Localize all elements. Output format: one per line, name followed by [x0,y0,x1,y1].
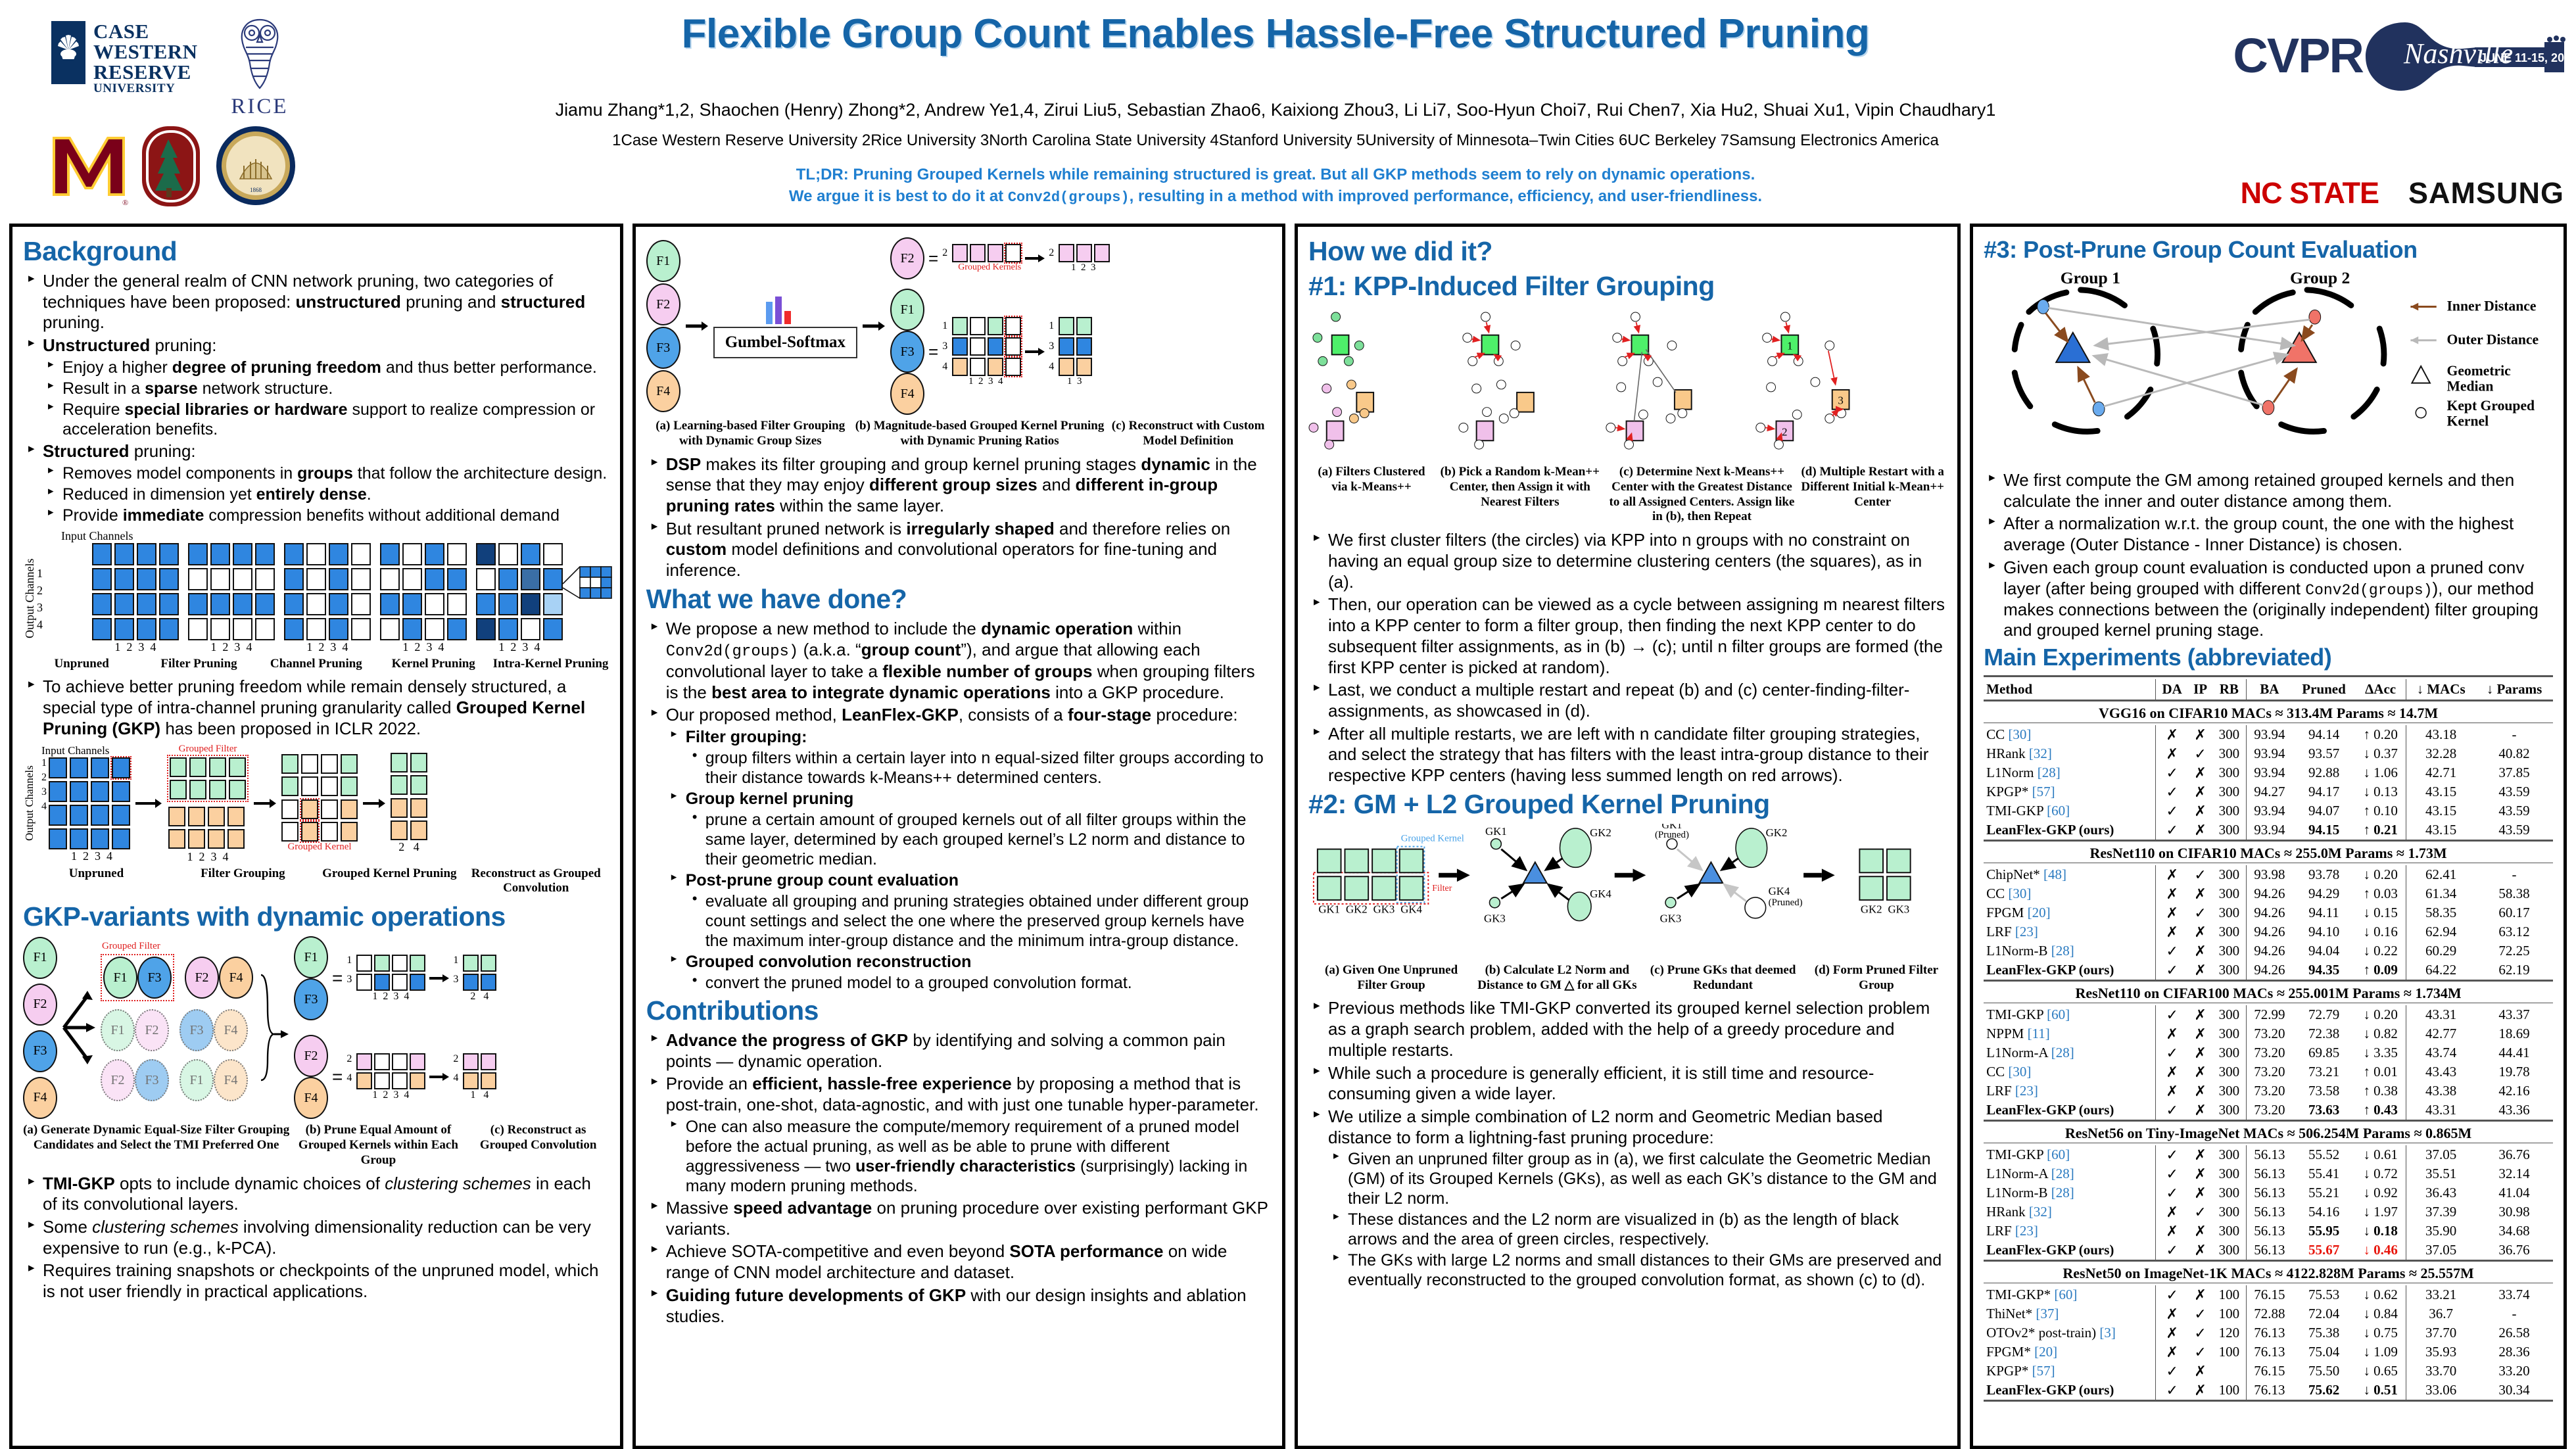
bullet-item: Given each group count evaluation is con… [2003,558,2553,641]
cwru-shield-icon [51,21,85,84]
fig1-block-kernel-pruning: 1 2 3 4 [380,543,467,654]
group2-label: Group 2 [2290,268,2350,287]
svg-text:GK3: GK3 [1888,903,1909,916]
fig1-output-channels-label: Output Channels [23,546,37,651]
gm-caption-d: (d) Form Pruned Filter Group [1806,963,1947,993]
filter-node: F4 [23,1077,57,1119]
stage-name: Group kernel pruning [686,790,854,808]
cell-ip: ✗ [2188,1241,2212,1261]
cell-params: 36.76 [2475,1145,2553,1164]
left-logo-group: CASE WESTERN RESERVE UNIVERSITY R [20,7,388,217]
cell-rb: 300 [2212,1164,2246,1183]
cell-ba: 94.27 [2246,782,2293,801]
cell-macs: 43.15 [2406,782,2475,801]
cell-params: 30.34 [2475,1381,2553,1401]
cell-dacc: ↓ 0.13 [2355,782,2406,801]
svg-text:GK2: GK2 [1346,903,1368,916]
cell-pruned: 55.67 [2293,1241,2355,1261]
cvpr-wordmark: CVPR [2233,28,2363,83]
cell-da: ✗ [2156,1323,2188,1342]
dsp-groups: F2 = 2 Grouped Kernels 2 1 2 3 F1F3F4 = [890,237,1110,415]
cell-method: CC [30] [1984,1062,2156,1081]
gm-caption-c: (c) Prune GKs that deemed Redundant [1640,963,1805,993]
cell-ba: 93.94 [2246,725,2293,744]
cell-rb: 300 [2212,1241,2246,1261]
cell-ip: ✗ [2188,763,2212,782]
gm-arrow-1 [1439,868,1470,882]
gumbel-softmax-box: Gumbel-Softmax [713,327,857,358]
fig3-group-kernels: F1F3 = 1 3 1 2 3 4 1 3 2 4 [294,936,496,1119]
table-row: TMI-GKP [60]✓✗30093.9494.07↑ 0.1043.1543… [1984,801,2553,820]
svg-text:Kernel: Kernel [2447,414,2489,429]
cell-params: 72.25 [2475,941,2553,961]
bullet-item: Require special libraries or hardware su… [62,400,609,439]
filter-node: F2 [646,283,680,325]
cell-method: L1Norm-B [28] [1984,1183,2156,1202]
fig1-caption: Filter Pruning [140,657,257,672]
cell-dacc: ↓ 0.18 [2355,1222,2406,1241]
cell-ba: 93.94 [2246,763,2293,782]
table-group-header-row: ResNet56 on Tiny-ImageNet MACs ≈ 506.254… [1984,1124,2553,1143]
cell-ba: 73.20 [2246,1024,2293,1043]
table-row: LeanFlex-GKP (ours)✓✗30073.2073.63↑ 0.43… [1984,1101,2553,1121]
cell-pruned: 93.78 [2293,865,2355,884]
section-title-contributions: Contributions [646,995,1272,1026]
svg-text:GK2: GK2 [1590,826,1611,839]
gm-caption-a: (a) Given One Unpruned Filter Group [1308,963,1474,993]
rice-wordmark: RICE [217,95,302,119]
svg-text:®: ® [122,198,128,207]
table-row: L1Norm-A [28]✓✗30073.2069.85↓ 3.3543.744… [1984,1043,2553,1062]
cell-ip: ✗ [2188,782,2212,801]
bullet-item: We first compute the GM among retained g… [2003,470,2553,511]
cell-da: ✓ [2156,1241,2188,1261]
cell-macs: 60.29 [2406,941,2475,961]
fig1-block-intra-kernel-pruning: 1 2 3 4 [476,543,563,654]
filter-node: F4 [646,370,680,412]
cell-rb: 300 [2212,725,2246,744]
table-group-header: ResNet56 on Tiny-ImageNet MACs ≈ 506.254… [1984,1124,2553,1143]
gm-bullet-list: Previous methods like TMI-GKP converted … [1308,998,1947,1290]
stage-desc: convert the pruned model to a grouped co… [705,973,1272,993]
gm-sub-list: Given an unpruned filter group as in (a)… [1328,1149,1947,1290]
cell-pruned: 94.14 [2293,725,2355,744]
cell-ip: ✗ [2188,1101,2212,1121]
filter-node: F2 [890,237,924,279]
svg-text:GK1: GK1 [1318,903,1340,916]
filter-node: F3 [23,1030,57,1072]
cell-dacc: ↓ 1.97 [2355,1202,2406,1222]
cell-da: ✗ [2156,1202,2188,1222]
evaluation-bullet-list: We first compute the GM among retained g… [1984,470,2553,641]
poster-title: Flexible Group Count Enables Hassle-Free… [368,11,2183,57]
col-dacc: ΔAcc [2355,679,2406,701]
col-params: ↓ Params [2475,679,2553,701]
filter-node: F1 [890,289,924,331]
cell-params: 37.85 [2475,763,2553,782]
guitar-icon: Nashville JUNE 11-15, 2025 [2359,16,2569,95]
fig1-block-channel-pruning: 1 2 3 4 [284,543,371,654]
cell-ip: ✗ [2188,1183,2212,1202]
cvpr-logo: CVPR Nashville JUNE 11-15, 2025 [2233,16,2569,95]
filter-node: F4 [294,1077,328,1119]
cell-da: ✓ [2156,782,2188,801]
svg-text:GK3: GK3 [1373,903,1395,916]
fig2-captions: Unpruned Filter Grouping Grouped Kernel … [23,867,609,897]
col-da: DA [2156,679,2188,701]
bullet-item: While such a procedure is generally effi… [1328,1063,1947,1105]
cell-ba: 94.26 [2246,941,2293,961]
table-row: LeanFlex-GKP (ours)✓✗30093.9494.15↑ 0.21… [1984,820,2553,841]
cell-ba: 94.26 [2246,922,2293,941]
cell-method: LRF [23] [1984,1081,2156,1101]
cell-da: ✓ [2156,763,2188,782]
cell-ip: ✗ [2188,1381,2212,1401]
figure-group-count-evaluation: Group 1 Group 2 [1984,268,2553,465]
grouped-kernel-annotation: Grouped Kernel [1401,834,1464,844]
cell-pruned: 93.57 [2293,744,2355,763]
kpp-panel-a [1309,312,1373,449]
cell-pruned: 55.21 [2293,1183,2355,1202]
uc-berkeley-seal-logo: 1868 [214,124,298,208]
bullet-item: Under the general realm of CNN network p… [43,271,609,333]
gm-l2-diagram: Grouped Kernel Filter GK1GK2GK3GK4 [1308,824,1947,962]
cell-method: FPGM* [20] [1984,1342,2156,1362]
cell-method: OTOv2* post-train) [3] [1984,1323,2156,1342]
cell-ba: 73.20 [2246,1062,2293,1081]
cell-params: 36.76 [2475,1241,2553,1261]
filter-node: F3 [137,957,172,999]
cell-dacc: ↓ 0.92 [2355,1183,2406,1202]
fig3-source-filters: F1 F2 F3 F4 [23,937,57,1119]
cell-macs: 33.21 [2406,1285,2475,1304]
fig2-block-unpruned: Input Channels 1234 1 2 3 4 [41,744,130,863]
cell-macs: 33.06 [2406,1381,2475,1401]
dsp-source-filters: F1 F2 F3 F4 [646,240,680,412]
fig2-arrow-icon [135,796,162,811]
cell-ip: ✗ [2188,1164,2212,1183]
figure-gkp-pipeline: Output Channels Input Channels 1234 1 2 … [23,744,609,897]
bullet-item: To achieve better pruning freedom while … [43,677,609,739]
fig1-blocks: 1 2 3 4 1 2 3 4 [45,543,609,654]
table-rule [1984,1401,2553,1404]
svg-text:GK4: GK4 [1769,885,1790,897]
cell-dacc: ↓ 0.22 [2355,941,2406,961]
col-macs: ↓ MACs [2406,679,2475,701]
tmi-gkp-bullet-list: TMI-GKP opts to include dynamic choices … [23,1174,609,1302]
cell-macs: 36.7 [2406,1304,2475,1323]
cell-rb: 300 [2212,801,2246,820]
cell-params: 34.68 [2475,1222,2553,1241]
bullet-item: TMI-GKP opts to include dynamic choices … [43,1174,609,1215]
filter-node: F2 [294,1035,328,1077]
cell-rb: 300 [2212,820,2246,841]
filter-node: F2 [135,1009,169,1051]
bullet-item: DSP makes its filter grouping and group … [666,454,1272,517]
probability-bars-icon [755,294,815,325]
cell-params: - [2475,725,2553,744]
cell-ba: 76.13 [2246,1381,2293,1401]
cell-ba: 76.13 [2246,1342,2293,1362]
cell-ba: 93.94 [2246,744,2293,763]
author-list: Jiamu Zhang*1,2, Shaochen (Henry) Zhong*… [368,100,2183,120]
bullet-item: Requires training snapshots or checkpoin… [43,1260,609,1302]
cell-dacc: ↓ 0.75 [2355,1323,2406,1342]
svg-text:GK1: GK1 [1485,825,1507,838]
table-row: LeanFlex-GKP (ours)✓✗30056.1355.67↓ 0.46… [1984,1241,2553,1261]
section-title-how-we-did-it: How we did it? [1308,236,1947,267]
dsp-caption-b: (b) Magnitude-based Grouped Kernel Pruni… [855,419,1105,449]
cell-rb: 300 [2212,744,2246,763]
table-group-header: ResNet110 on CIFAR10 MACs ≈ 255.0M Param… [1984,843,2553,863]
table-row: LeanFlex-GKP (ours)✓✗10076.1375.62↓ 0.51… [1984,1381,2553,1401]
kpp-caption-c: (c) Determine Next k-Means++ Center with… [1606,465,1799,525]
cell-pruned: 55.52 [2293,1145,2355,1164]
samsung-logo: SAMSUNG [2408,176,2564,210]
right-logo-group: CVPR Nashville JUNE 11-15, 2025 NC STATE… [2182,4,2576,221]
filter-node: F1 [179,1059,214,1101]
svg-text:2: 2 [1782,425,1787,438]
cell-method: LeanFlex-GKP (ours) [1984,961,2156,981]
cell-ba: 73.20 [2246,1101,2293,1121]
table-row: CC [30]✗✗30073.2073.21↑ 0.0143.4319.78 [1984,1062,2553,1081]
cell-da: ✗ [2156,1342,2188,1362]
table-row: LRF [23]✗✗30056.1355.95↓ 0.1835.9034.68 [1984,1222,2553,1241]
cell-params: - [2475,865,2553,884]
university-of-minnesota-logo: ® [46,124,131,209]
fig1-block-unpruned: 1 2 3 4 [92,543,179,654]
bullet-item: We first cluster filters (the circles) v… [1328,530,1947,592]
cell-pruned: 94.07 [2293,801,2355,820]
cell-method: TMI-GKP* [60] [1984,1285,2156,1304]
svg-text:Median: Median [2447,378,2494,394]
fig1-caption: Channel Pruning [258,657,375,672]
cell-ba: 72.99 [2246,1005,2293,1024]
table-row: L1Norm [28]✓✗30093.9492.88↓ 1.0642.7137.… [1984,763,2553,782]
cell-macs: 37.70 [2406,1323,2475,1342]
filter-node: F2 [185,957,219,999]
bullet-item: Then, our operation can be viewed as a c… [1328,594,1947,678]
table-row: FPGM* [20]✗✓10076.1375.04↓ 1.0935.9328.3… [1984,1342,2553,1362]
structured-sub-list: Removes model components in groups that … [43,463,609,525]
cell-rb: 100 [2212,1342,2246,1362]
cell-ip: ✗ [2188,1362,2212,1381]
cell-params: 32.14 [2475,1164,2553,1183]
filter-node: F1 [646,240,680,282]
bullet-item: But resultant pruned network is irregula… [666,519,1272,581]
eval-legend: Inner Distance Outer Distance Geometric … [2411,298,2539,429]
stage-item: Group kernel pruning prune a certain amo… [686,789,1272,869]
fig3-brace-arrow-icon [258,968,289,1087]
cell-ba: 73.20 [2246,1081,2293,1101]
cell-macs: 43.15 [2406,801,2475,820]
cell-dacc: ↓ 0.62 [2355,1285,2406,1304]
section-title-background: Background [23,236,609,267]
cell-ba: 56.13 [2246,1183,2293,1202]
cell-pruned: 94.17 [2293,782,2355,801]
fig2-caption: Unpruned [23,867,170,897]
bullet-item: Enjoy a higher degree of pruning freedom… [62,358,609,377]
tldr-line-2: We argue it is best to do it at Conv2d(g… [368,187,2183,206]
cell-method: LeanFlex-GKP (ours) [1984,1381,2156,1401]
stage-item: Post-prune group count evaluation evalua… [686,870,1272,951]
figure-gkp-variants: F1 F2 F3 F4 Grouped Fi [23,936,609,1168]
kpp-panel-b [1459,312,1534,449]
table-row: HRank [32]✗✓30056.1354.16↓ 1.9737.3930.9… [1984,1202,2553,1222]
kpp-caption-a: (a) Filters Clustered via k-Means++ [1308,465,1435,525]
table-row: L1Norm-B [28]✓✗30094.2694.04↓ 0.2260.297… [1984,941,2553,961]
cell-da: ✓ [2156,1362,2188,1381]
col-pruned: Pruned [2293,679,2355,701]
cell-params: 43.59 [2475,801,2553,820]
cell-dacc: ↓ 0.20 [2355,865,2406,884]
svg-text:GK2: GK2 [1861,903,1882,916]
table-row: ThiNet* [37]✗✓10072.8872.04↓ 0.8436.7- [1984,1304,2553,1323]
cell-pruned: 75.53 [2293,1285,2355,1304]
case-western-reserve-logo: CASE WESTERN RESERVE UNIVERSITY [51,21,198,95]
cell-rb: 100 [2212,1285,2246,1304]
cell-da: ✓ [2156,1101,2188,1121]
sunburst-icon [57,33,80,62]
cell-dacc: ↑ 0.20 [2355,725,2406,744]
bullet-item: Achieve SOTA-competitive and even beyond… [666,1241,1272,1283]
section-title-gkp-variants: GKP-variants with dynamic operations [23,901,609,932]
cell-dacc: ↓ 0.72 [2355,1164,2406,1183]
bullet-item: Advance the progress of GKP by identifyi… [666,1030,1272,1072]
cell-ip: ✗ [2188,1081,2212,1101]
cell-params: 60.17 [2475,903,2553,922]
cell-macs: 35.90 [2406,1222,2475,1241]
cell-rb: 300 [2212,941,2246,961]
kept-grouped-kernel [2093,402,2105,416]
cell-pruned: 75.38 [2293,1323,2355,1342]
cell-ip: ✗ [2188,961,2212,981]
cell-method: L1Norm-A [28] [1984,1164,2156,1183]
gm-arrow-3 [1803,868,1835,882]
kpp-panel-d: 1 3 2 [1756,312,1849,449]
table-row: CC [30]✗✗30094.2694.29↑ 0.0361.3458.38 [1984,884,2553,903]
cell-macs: 36.43 [2406,1183,2475,1202]
group-distance-diagram: Group 1 Group 2 [1984,268,2553,465]
cell-method: CC [30] [1984,725,2156,744]
kpp-scatter-diagram: 1 3 2 [1308,306,1947,463]
cell-rb: 300 [2212,1024,2246,1043]
filter-node: F2 [101,1059,135,1101]
cell-params: 18.69 [2475,1024,2553,1043]
cell-macs: 43.31 [2406,1005,2475,1024]
cell-rb: 100 [2212,1304,2246,1323]
cell-macs: 43.15 [2406,820,2475,841]
bullet-item: Guiding future developments of GKP with … [666,1285,1272,1327]
cell-ba: 56.13 [2246,1145,2293,1164]
cell-dacc: ↑ 0.38 [2355,1081,2406,1101]
cell-ip: ✗ [2188,1222,2212,1241]
cell-dacc: ↓ 1.06 [2355,763,2406,782]
fig3-arrow-icon [429,972,449,984]
stage-item: Grouped convolution reconstruction conve… [686,952,1272,993]
cell-rb: 300 [2212,1145,2246,1164]
main-experiments-table: Method DA IP RB BA Pruned ΔAcc ↓ MACs ↓ … [1984,675,2553,1404]
cell-ip: ✗ [2188,820,2212,841]
fig1-caption: Kernel Pruning [375,657,492,672]
cell-method: KPGP* [57] [1984,1362,2156,1381]
cell-params: 43.36 [2475,1101,2553,1121]
cvpr-dates-text: JUNE 11-15, 2025 [2480,51,2569,64]
fig2-input-channels-label: Input Channels [41,744,130,757]
kept-grouped-kernel [2262,400,2274,415]
dsp-arrow-icon [1025,252,1045,264]
stage-item: Filter grouping: group filters within a … [686,727,1272,788]
cell-macs: 43.43 [2406,1062,2475,1081]
cell-da: ✓ [2156,1381,2188,1401]
poster-root: CASE WESTERN RESERVE UNIVERSITY R [0,0,2576,1449]
cell-ip: ✗ [2188,884,2212,903]
filter-node: F4 [219,957,253,999]
cell-method: CC [30] [1984,884,2156,903]
table-group-header: ResNet110 on CIFAR100 MACs ≈ 255.001M Pa… [1984,984,2553,1003]
svg-text:1868: 1868 [250,187,262,193]
cell-ba: 56.13 [2246,1241,2293,1261]
cell-da: ✓ [2156,1183,2188,1202]
cwru-line-2: WESTERN [93,41,198,62]
cell-method: LeanFlex-GKP (ours) [1984,1241,2156,1261]
kpp-caption-d: (d) Multiple Restart with a Different In… [1798,465,1947,525]
fig2-caption: Reconstruct as Grouped Convolution [463,867,609,897]
fig1-caption: Unpruned [23,657,140,672]
poster-header: CASE WESTERN RESERVE UNIVERSITY R [0,0,2576,222]
fig2-block-filter-grouping: Grouped Filter 1 2 3 4 [167,744,249,864]
table-row: KPGP* [57]✓✗30094.2794.17↓ 0.1343.1543.5… [1984,782,2553,801]
background-bullet-list: Under the general realm of CNN network p… [23,271,609,525]
kept-grouped-kernel [2309,310,2321,324]
cell-pruned: 75.04 [2293,1342,2355,1362]
cell-method: LRF [23] [1984,1222,2156,1241]
cell-ip: ✗ [2188,1043,2212,1062]
table-row: TMI-GKP [60]✓✗30072.9972.79↓ 0.2043.3143… [1984,1005,2553,1024]
fig2-grouped-filter-label: Grouped Filter [167,744,249,755]
cell-macs: 43.74 [2406,1043,2475,1062]
cell-da: ✗ [2156,725,2188,744]
filter-node: F3 [890,331,924,373]
svg-text:GK2: GK2 [1766,826,1788,839]
col-ip: IP [2188,679,2212,701]
cell-pruned: 55.41 [2293,1164,2355,1183]
cell-dacc: ↓ 0.16 [2355,922,2406,941]
cell-pruned: 72.04 [2293,1304,2355,1323]
cell-dacc: ↓ 0.37 [2355,744,2406,763]
cell-rb [2212,1362,2246,1381]
cell-pruned: 54.16 [2293,1202,2355,1222]
fig3-candidates: Grouped Filter F1F3 F2F4 F1F2 F3F4 F2F3 … [101,954,253,1101]
cell-params: 41.04 [2475,1183,2553,1202]
cell-da: ✓ [2156,961,2188,981]
col-rb: RB [2212,679,2246,701]
cell-ba: 94.26 [2246,903,2293,922]
cell-da: ✗ [2156,884,2188,903]
cell-ba: 56.13 [2246,1164,2293,1183]
cell-pruned: 73.58 [2293,1081,2355,1101]
section-title-gm-l2-pruning: #2: GM + L2 Grouped Kernel Pruning [1308,789,1947,820]
cell-pruned: 94.29 [2293,884,2355,903]
cell-dacc: ↓ 1.09 [2355,1342,2406,1362]
cell-rb: 300 [2212,884,2246,903]
cell-dacc: ↑ 0.09 [2355,961,2406,981]
cell-rb: 300 [2212,1081,2246,1101]
fig1-caption: Intra-Kernel Pruning [492,657,609,672]
fig2-grouped-kernel-label: Grouped Kernel [281,842,358,853]
cell-params: 42.16 [2475,1081,2553,1101]
fig3-caption-c: (c) Reconstruct as Grouped Convolution [467,1123,609,1168]
